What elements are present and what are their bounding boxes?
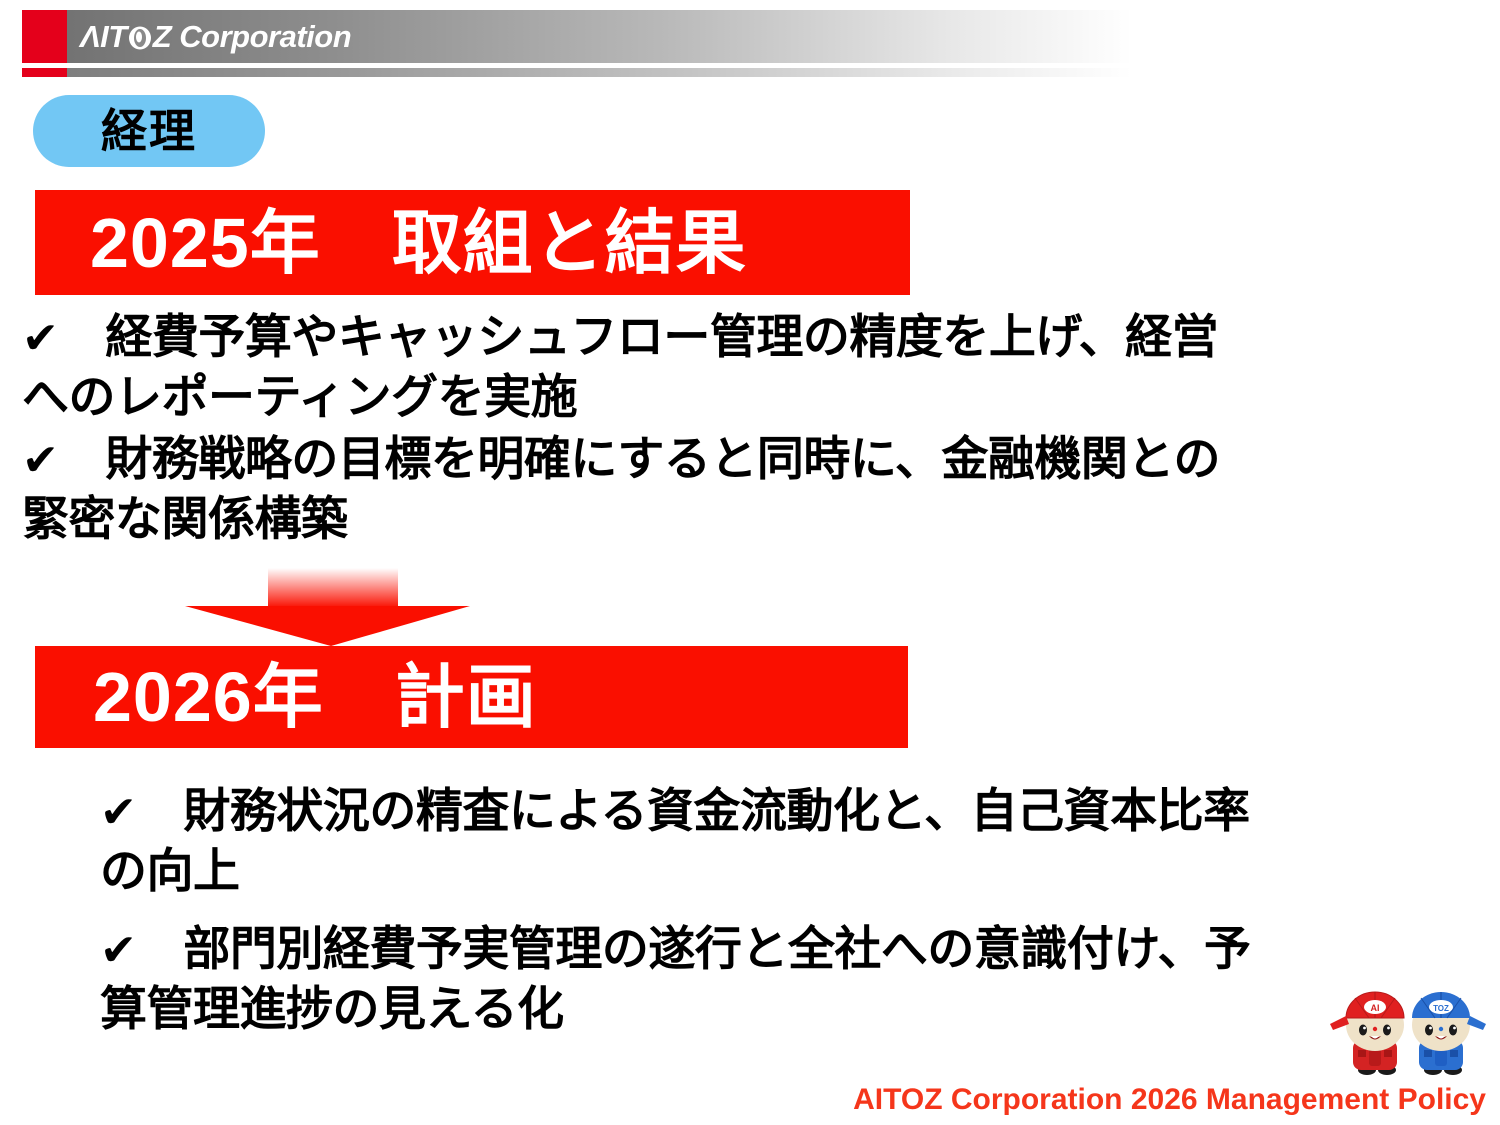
header-thin-gradient-bar (22, 68, 1132, 77)
mascot-blue: TOZ (1412, 992, 1486, 1075)
bullet-2025-item-2: ✔ 財務戦略の目標を明確にすると同時に、金融機関との緊密な関係構築 (22, 430, 1252, 548)
section-banner-2025-results: 2025年 取組と結果 (35, 190, 910, 295)
logo-text-lead: ΛIT (80, 19, 127, 54)
logo-text-tail: Z Corporation (153, 19, 351, 54)
checkmark-icon: ✔ (22, 314, 59, 363)
bullet-2025-item-2-text: 財務戦略の目標を明確にすると同時に、金融機関との緊密な関係構築 (22, 432, 1220, 545)
checkmark-icon: ✔ (100, 926, 137, 975)
checkmark-icon: ✔ (22, 436, 59, 485)
aitoz-o-eye-icon (128, 26, 152, 50)
svg-text:AI: AI (1371, 1003, 1380, 1013)
section-banner-2025-label: 2025年 取組と結果 (35, 204, 747, 282)
department-badge-label: 経理 (101, 105, 197, 157)
checkmark-icon: ✔ (100, 788, 137, 837)
bullet-2026-item-2-text: 部門別経費予実管理の遂行と全社への意識付け、予算管理進捗の見える化 (100, 922, 1251, 1035)
mascot-red: AI (1330, 992, 1404, 1075)
svg-text:TOZ: TOZ (1433, 1004, 1449, 1013)
header-red-accent-block (22, 10, 67, 63)
bullet-2025-item-1-text: 経費予算やキャッシュフロー管理の精度を上げ、経営へのレポーティングを実施 (22, 310, 1218, 423)
slide-header: ΛITZ Corporation (0, 0, 1500, 86)
footer-policy-text: AITOZ Corporation 2026 Management Policy (853, 1083, 1486, 1117)
company-logo: ΛITZ Corporation (80, 18, 351, 55)
department-badge: 経理 (33, 95, 265, 167)
bullet-2026-item-2: ✔ 部門別経費予実管理の遂行と全社への意識付け、予算管理進捗の見える化 (100, 920, 1280, 1038)
section-banner-2026-label: 2026年 計画 (35, 658, 537, 736)
bullet-2026-item-1: ✔ 財務状況の精査による資金流動化と、自己資本比率の向上 (100, 782, 1250, 900)
section-banner-2026-plan: 2026年 計画 (35, 646, 908, 748)
down-arrow-icon (185, 568, 470, 646)
header-thin-red-accent (22, 68, 67, 77)
mascot-pair: AI TOZ (1325, 978, 1495, 1078)
bullet-2026-item-1-text: 財務状況の精査による資金流動化と、自己資本比率の向上 (100, 784, 1250, 897)
bullet-2025-item-1: ✔ 経費予算やキャッシュフロー管理の精度を上げ、経営へのレポーティングを実施 (22, 308, 1252, 426)
